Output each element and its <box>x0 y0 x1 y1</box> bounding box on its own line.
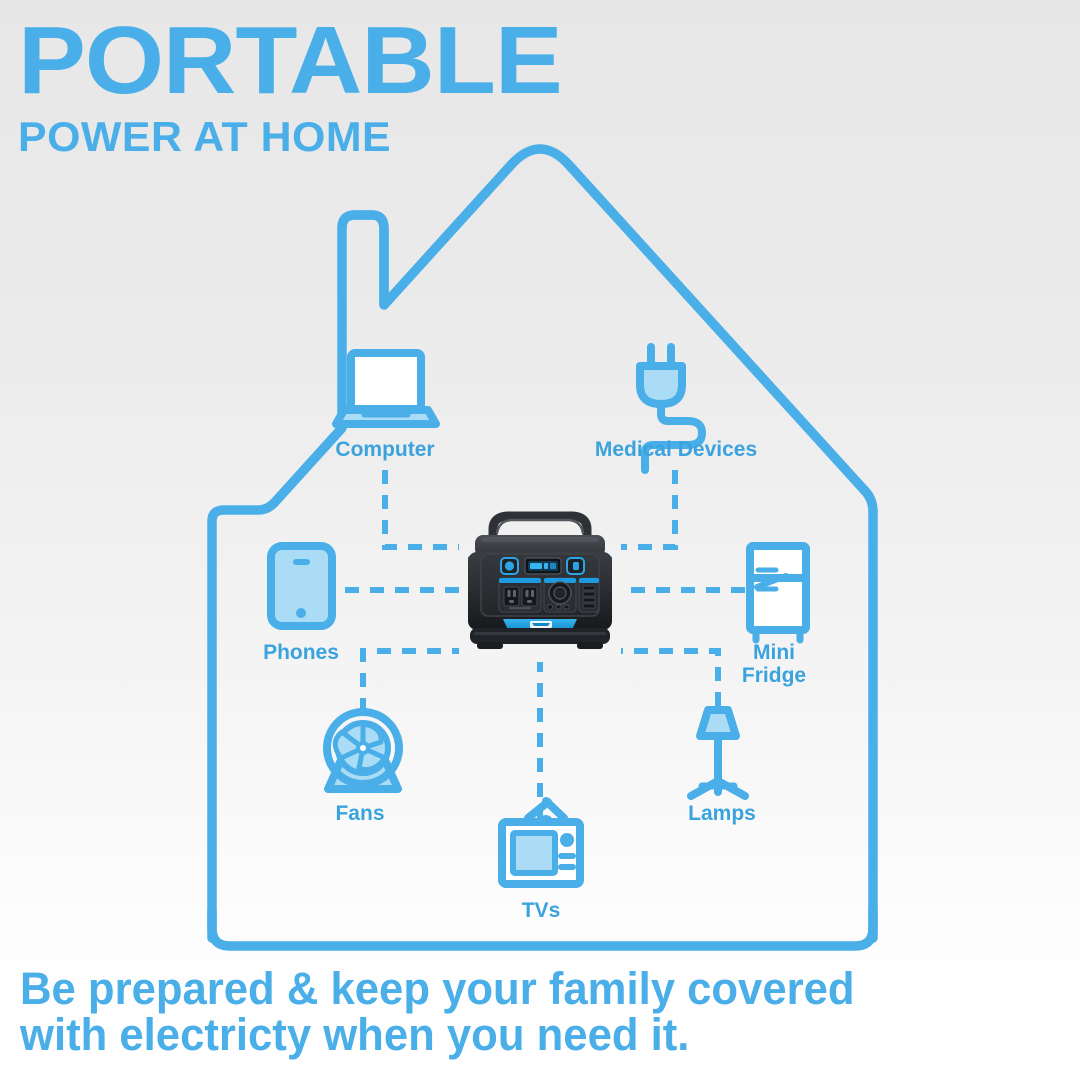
label-fans: Fans <box>322 802 398 825</box>
floor-lamp-icon <box>691 710 745 796</box>
smartphone-icon <box>271 546 332 626</box>
laptop-icon <box>336 353 436 424</box>
device-handle <box>493 516 587 538</box>
footer-line-2: with electricty when you need it. <box>20 1012 1029 1058</box>
fan-icon <box>327 712 399 789</box>
page-subtitle: POWER AT HOME <box>18 114 541 160</box>
label-tvs: TVs <box>506 899 576 922</box>
footer-line-1: Be prepared & keep your family covered <box>20 966 1029 1012</box>
label-lamps: Lamps <box>678 802 766 825</box>
label-mini-fridge: Mini Fridge <box>728 641 820 687</box>
device-output-ports <box>499 578 599 612</box>
refrigerator-icon <box>750 546 806 640</box>
device-controls <box>501 558 584 574</box>
label-medical-devices: Medical Devices <box>588 438 764 461</box>
infographic-canvas: PORTABLE POWER AT HOME Computer Medical … <box>0 0 1080 1080</box>
headline-block: PORTABLE POWER AT HOME <box>18 18 531 160</box>
television-icon <box>502 801 580 884</box>
portable-power-station <box>459 508 621 660</box>
footer-block: Be prepared & keep your family covered w… <box>20 966 1060 1058</box>
label-computer: Computer <box>329 438 441 461</box>
label-phones: Phones <box>253 641 349 664</box>
page-title: PORTABLE <box>18 18 562 104</box>
